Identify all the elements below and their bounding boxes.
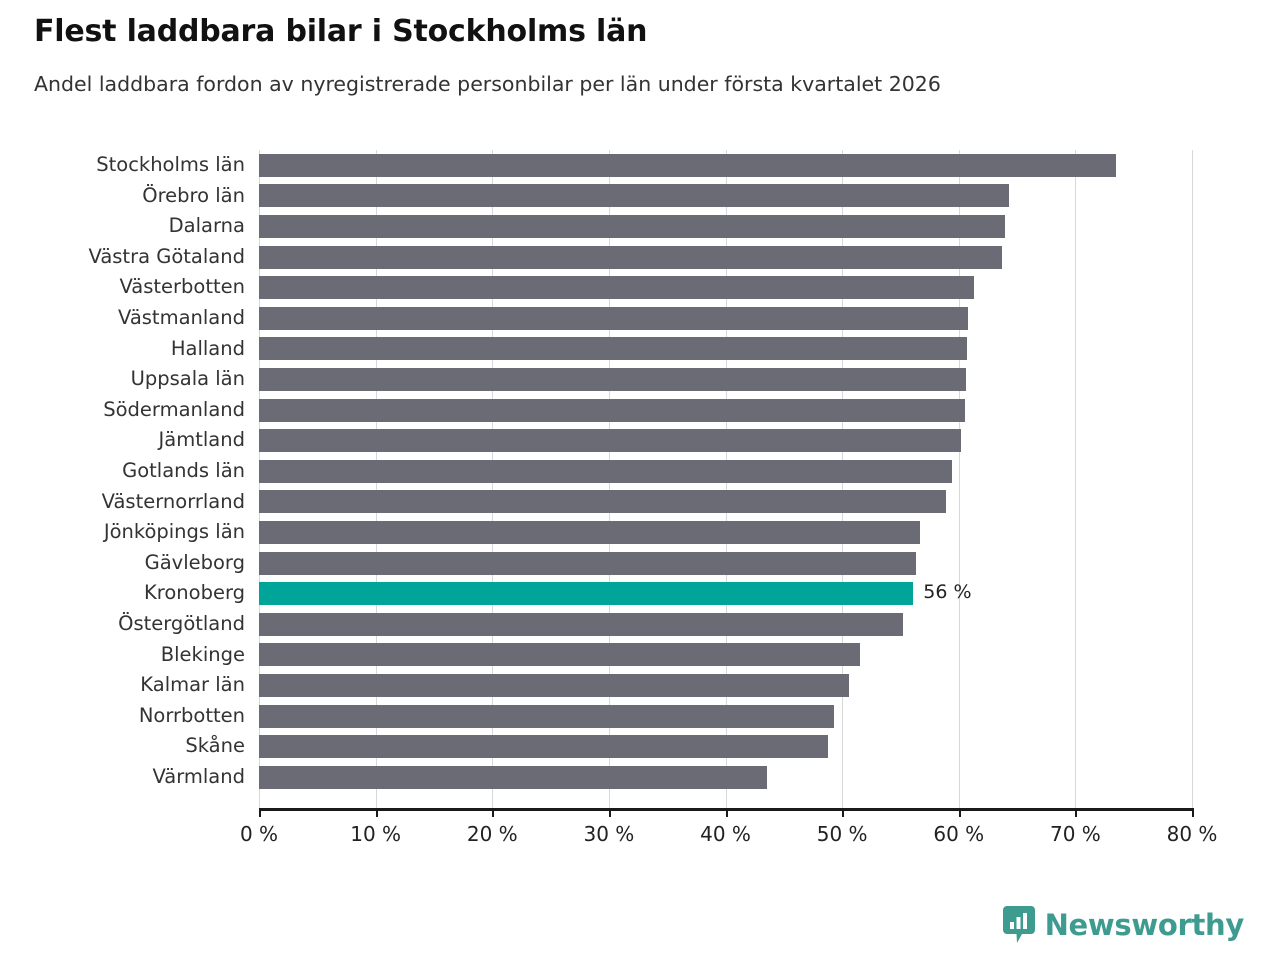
y-axis-label-stockholms-län: Stockholms län <box>0 150 245 181</box>
y-axis-label-blekinge: Blekinge <box>0 640 245 671</box>
bar-halland[interactable] <box>259 337 967 360</box>
x-tick-40 <box>726 808 728 817</box>
bar-row[interactable] <box>259 272 1192 303</box>
bar-value-label: 56 % <box>923 581 971 604</box>
bar-row[interactable] <box>259 640 1192 671</box>
bar-västernorrland[interactable] <box>259 490 946 513</box>
y-axis-label-uppsala-län: Uppsala län <box>0 364 245 395</box>
bar-row[interactable] <box>259 395 1192 426</box>
x-tick-50 <box>842 808 844 817</box>
y-axis-label-halland: Halland <box>0 334 245 365</box>
x-tick-30 <box>609 808 611 817</box>
bar-chart: Stockholms länÖrebro länDalarnaVästra Gö… <box>0 140 1280 860</box>
y-axis-label-östergötland: Östergötland <box>0 609 245 640</box>
bar-södermanland[interactable] <box>259 399 965 422</box>
bar-row[interactable] <box>259 364 1192 395</box>
x-tick-70 <box>1075 808 1077 817</box>
bar-row[interactable] <box>259 181 1192 212</box>
x-tick-0 <box>259 808 261 817</box>
bar-row[interactable] <box>259 487 1192 518</box>
gridline-80 <box>1192 150 1193 808</box>
y-axis-label-gävleborg: Gävleborg <box>0 548 245 579</box>
bar-row[interactable] <box>259 701 1192 732</box>
bar-row[interactable] <box>259 517 1192 548</box>
y-axis-label-kalmar-län: Kalmar län <box>0 670 245 701</box>
y-axis-label-örebro-län: Örebro län <box>0 181 245 212</box>
bar-row[interactable] <box>259 242 1192 273</box>
y-axis-label-kronoberg: Kronoberg <box>0 578 245 609</box>
bar-row[interactable] <box>259 456 1192 487</box>
chart-header: Flest laddbara bilar i Stockholms län An… <box>0 0 1280 98</box>
y-axis-label-västerbotten: Västerbotten <box>0 272 245 303</box>
x-tick-label-20: 20 % <box>467 822 518 846</box>
y-axis-label-södermanland: Södermanland <box>0 395 245 426</box>
y-axis-label-skåne: Skåne <box>0 731 245 762</box>
x-tick-label-70: 70 % <box>1050 822 1101 846</box>
bar-row[interactable] <box>259 211 1192 242</box>
bar-dalarna[interactable] <box>259 215 1005 238</box>
bar-kronoberg[interactable] <box>259 582 913 605</box>
y-axis-label-norrbotten: Norrbotten <box>0 701 245 732</box>
bar-blekinge[interactable] <box>259 643 860 666</box>
x-tick-80 <box>1192 808 1194 817</box>
bar-västerbotten[interactable] <box>259 276 974 299</box>
x-tick-20 <box>492 808 494 817</box>
bar-kalmar-län[interactable] <box>259 674 849 697</box>
bar-row[interactable] <box>259 425 1192 456</box>
bar-norrbotten[interactable] <box>259 705 834 728</box>
newsworthy-logo: Newsworthy <box>1003 906 1244 944</box>
bar-row[interactable] <box>259 548 1192 579</box>
bar-row[interactable] <box>259 762 1192 793</box>
y-axis-label-dalarna: Dalarna <box>0 211 245 242</box>
chart-subtitle: Andel laddbara fordon av nyregistrerade … <box>34 72 1246 98</box>
x-tick-label-40: 40 % <box>700 822 751 846</box>
x-tick-label-80: 80 % <box>1167 822 1218 846</box>
bar-uppsala-län[interactable] <box>259 368 966 391</box>
y-axis-label-västmanland: Västmanland <box>0 303 245 334</box>
bar-row[interactable] <box>259 303 1192 334</box>
x-tick-label-50: 50 % <box>817 822 868 846</box>
y-axis-label-jönköpings-län: Jönköpings län <box>0 517 245 548</box>
x-tick-label-60: 60 % <box>933 822 984 846</box>
bar-värmland[interactable] <box>259 766 767 789</box>
brand-name: Newsworthy <box>1045 911 1244 940</box>
bar-örebro-län[interactable] <box>259 184 1009 207</box>
bars-container: 56 % <box>259 150 1192 808</box>
bar-skåne[interactable] <box>259 735 828 758</box>
bar-row[interactable] <box>259 150 1192 181</box>
y-axis-label-värmland: Värmland <box>0 762 245 793</box>
x-tick-10 <box>376 808 378 817</box>
bar-jämtland[interactable] <box>259 429 961 452</box>
bar-row[interactable] <box>259 334 1192 365</box>
bar-västra-götaland[interactable] <box>259 246 1002 269</box>
bar-row[interactable] <box>259 670 1192 701</box>
bar-stockholms-län[interactable] <box>259 154 1116 177</box>
y-axis-label-västra-götaland: Västra Götaland <box>0 242 245 273</box>
bar-row[interactable] <box>259 609 1192 640</box>
y-axis-label-gotlands-län: Gotlands län <box>0 456 245 487</box>
x-tick-label-10: 10 % <box>350 822 401 846</box>
bar-jönköpings-län[interactable] <box>259 521 920 544</box>
page-title: Flest laddbara bilar i Stockholms län <box>34 14 1246 50</box>
x-tick-label-0: 0 % <box>240 822 278 846</box>
bar-gävleborg[interactable] <box>259 552 916 575</box>
newsworthy-bar-chart-bubble-icon <box>1003 906 1035 944</box>
x-tick-label-30: 30 % <box>583 822 634 846</box>
bar-gotlands-län[interactable] <box>259 460 952 483</box>
bar-row[interactable] <box>259 731 1192 762</box>
bar-row[interactable]: 56 % <box>259 578 1192 609</box>
y-axis-label-jämtland: Jämtland <box>0 425 245 456</box>
y-axis-labels: Stockholms länÖrebro länDalarnaVästra Gö… <box>0 150 245 808</box>
plot-area: 56 % <box>259 150 1192 808</box>
bar-västmanland[interactable] <box>259 307 968 330</box>
x-tick-60 <box>959 808 961 817</box>
y-axis-label-västernorrland: Västernorrland <box>0 487 245 518</box>
bar-östergötland[interactable] <box>259 613 903 636</box>
